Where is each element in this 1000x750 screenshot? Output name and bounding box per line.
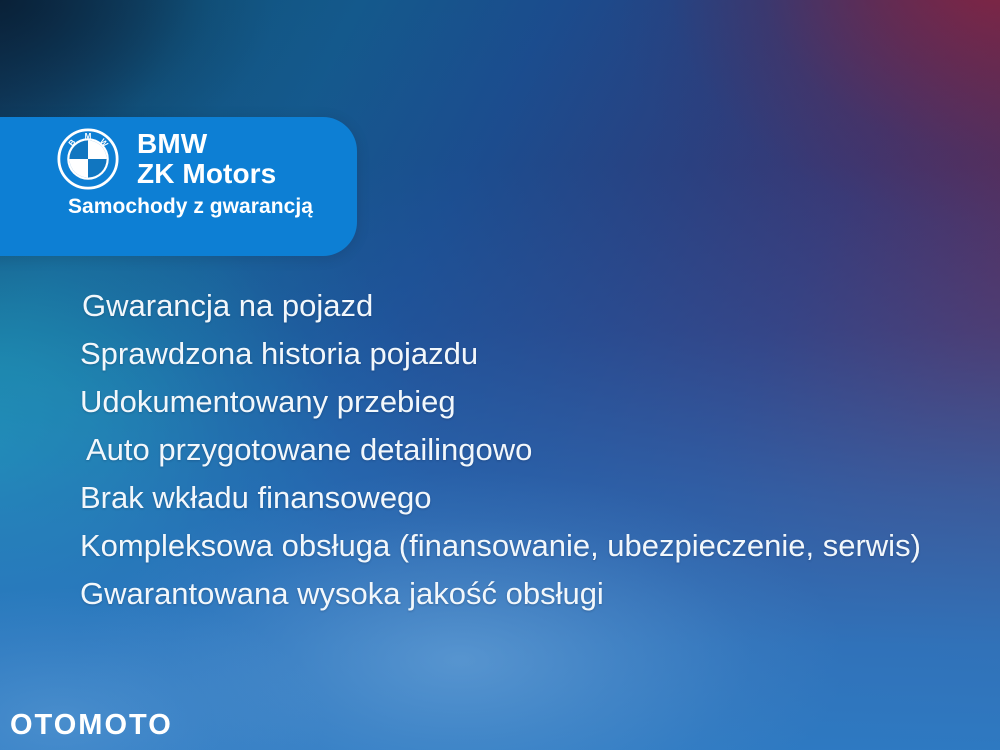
feature-item: Auto przygotowane detailingowo xyxy=(86,426,962,474)
brand-name-line2: ZK Motors xyxy=(137,159,276,189)
feature-item: Gwarantowana wysoka jakość obsługi xyxy=(80,570,962,618)
feature-item: Udokumentowany przebieg xyxy=(80,378,962,426)
dealer-badge: B M W BMW ZK Motors Samochody z gwarancj… xyxy=(0,117,357,256)
dealer-badge-header: B M W BMW ZK Motors xyxy=(0,117,357,190)
feature-item: Gwarancja na pojazd xyxy=(82,282,962,330)
dealer-name-block: BMW ZK Motors xyxy=(137,129,276,188)
bmw-roundel-icon: B M W xyxy=(57,128,119,190)
feature-item: Brak wkładu finansowego xyxy=(80,474,962,522)
dealer-tagline: Samochody z gwarancją xyxy=(0,195,357,219)
feature-item: Sprawdzona historia pojazdu xyxy=(80,330,962,378)
svg-text:M: M xyxy=(85,132,92,141)
brand-name-line1: BMW xyxy=(137,129,276,159)
promo-banner: B M W BMW ZK Motors Samochody z gwarancj… xyxy=(0,0,1000,750)
feature-item: Kompleksowa obsługa (finansowanie, ubezp… xyxy=(80,522,962,570)
otomoto-watermark: OTOMOTO xyxy=(10,711,173,740)
feature-list: Gwarancja na pojazd Sprawdzona historia … xyxy=(82,282,962,618)
